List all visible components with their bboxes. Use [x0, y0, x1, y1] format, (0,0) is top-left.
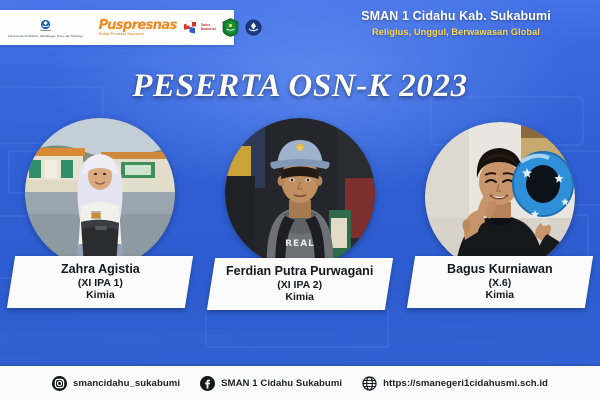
- participant-photo-zahra-agistia: [25, 118, 175, 268]
- participant-subject: Kimia: [226, 291, 373, 303]
- participant-name-card-2: Ferdian Putra Purwagani (XI IPA 2) Kimia: [207, 258, 393, 310]
- participant-name-card-3: Bagus Kurniawan (X.6) Kimia: [407, 256, 593, 308]
- poster-canvas: Kementerian Pendidikan, Kebudayaan, Rise…: [0, 0, 600, 400]
- participant-card-3: Bagus Kurniawan (X.6) Kimia: [406, 118, 594, 308]
- logo-bar: Kementerian Pendidikan, Kebudayaan, Rise…: [0, 10, 234, 45]
- participant-name: Ferdian Putra Purwagani: [226, 264, 373, 279]
- tut-wuri-handayani-logo: [245, 19, 262, 36]
- kemdikbud-caption: Kementerian Pendidikan, Kebudayaan, Rise…: [8, 35, 83, 38]
- footer-item-facebook[interactable]: SMAN 1 Cidahu Sukabumi: [200, 376, 342, 391]
- participant-class: (XI IPA 1): [61, 277, 140, 289]
- participant-subject: Kimia: [447, 289, 553, 301]
- participant-name: Bagus Kurniawan: [447, 262, 553, 277]
- sains-nasional-logo: Sains Nasional: [183, 20, 216, 35]
- participant-subject: Kimia: [61, 289, 140, 301]
- participants-row: Zahra Agistia (XI IPA 1) Kimia: [0, 118, 600, 318]
- school-name: SMAN 1 Cidahu Kab. Sukabumi: [326, 9, 586, 25]
- kemdikbud-logo: Kementerian Pendidikan, Kebudayaan, Rise…: [8, 17, 83, 38]
- page-title: PESERTA OSN-K 2023: [0, 68, 600, 105]
- instagram-icon: [52, 376, 67, 391]
- footer-bar: smancidahu_sukabumi SMAN 1 Cidahu Sukabu…: [0, 366, 600, 400]
- participant-photo-bagus-kurniawan: [425, 122, 575, 272]
- participant-class: (XI IPA 2): [226, 279, 373, 291]
- jawa-barat-logo: [222, 18, 239, 37]
- participant-name-card-1: Zahra Agistia (XI IPA 1) Kimia: [7, 256, 193, 308]
- footer-facebook-label: SMAN 1 Cidahu Sukabumi: [221, 378, 342, 389]
- globe-icon: [362, 376, 377, 391]
- facebook-icon: [200, 376, 215, 391]
- participant-card-1: Zahra Agistia (XI IPA 1) Kimia: [6, 118, 194, 308]
- puspresnas-logo: Puspresnas Pusat Prestasi Nasional: [99, 19, 177, 37]
- sains-nasional-line2: Nasional: [201, 28, 216, 32]
- puspresnas-tagline: Pusat Prestasi Nasional: [99, 33, 177, 37]
- participant-class: (X.6): [447, 277, 553, 289]
- school-motto: Religius, Unggul, Berwawasan Global: [326, 27, 586, 37]
- footer-item-website[interactable]: https://smanegeri1cidahusmi.sch.id: [362, 376, 548, 391]
- participant-name: Zahra Agistia: [61, 262, 140, 277]
- svg-text:REAL: REAL: [285, 239, 315, 249]
- footer-website-label: https://smanegeri1cidahusmi.sch.id: [383, 378, 548, 389]
- school-header: SMAN 1 Cidahu Kab. Sukabumi Religius, Un…: [326, 9, 586, 37]
- footer-instagram-label: smancidahu_sukabumi: [73, 378, 180, 389]
- participant-photo-ferdian-putra-purwagani: REAL: [225, 118, 375, 268]
- footer-item-instagram[interactable]: smancidahu_sukabumi: [52, 376, 180, 391]
- puspresnas-wordmark: Puspresnas: [99, 19, 177, 32]
- participant-card-2: REAL: [206, 118, 394, 310]
